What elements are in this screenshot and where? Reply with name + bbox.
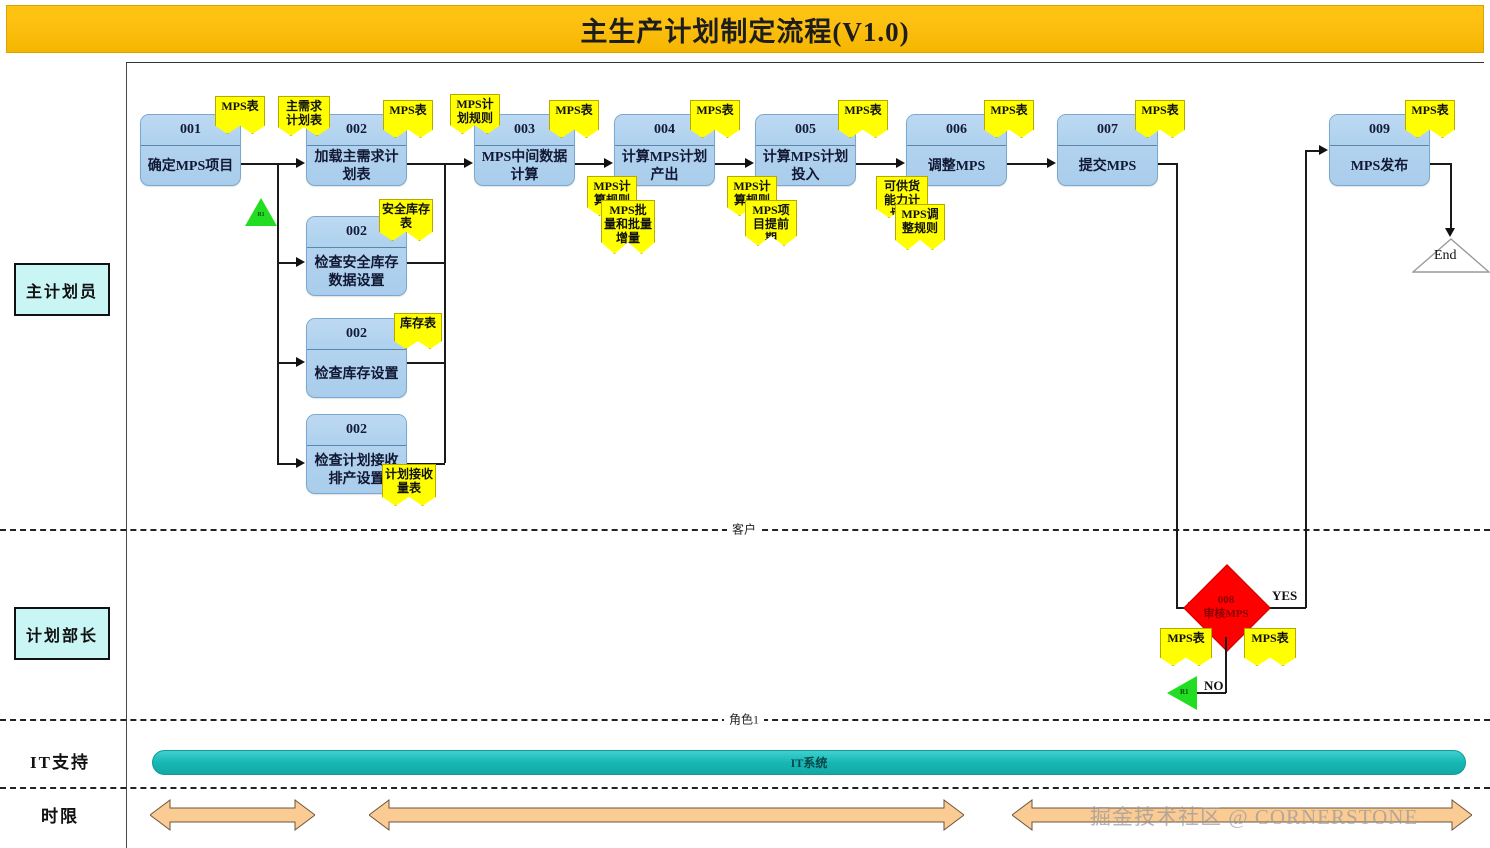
arrow-into-007 [1047, 158, 1056, 168]
connector-002a-to-003 [407, 163, 465, 165]
arrow-into-006 [896, 158, 905, 168]
connector-002b-out [407, 262, 445, 264]
process-label-002c: 检查库存设置 [307, 350, 406, 398]
arrow-into-002b [296, 257, 305, 267]
process-label-003: MPS中间数据计算 [475, 146, 574, 186]
page-title-bar: 主生产计划制定流程(V1.0) [6, 5, 1484, 53]
connector-branch-bus [277, 163, 279, 463]
process-box-002c[interactable]: 002 检查库存设置 [306, 318, 407, 398]
note-008-right: MPS表 [1244, 628, 1296, 666]
note-004-mps: MPS表 [690, 100, 740, 138]
arrow-into-005 [745, 158, 754, 168]
process-number-002d: 002 [307, 415, 406, 446]
note-006-adjust: MPS调整规则 [895, 204, 945, 250]
decision-text-008: 审核MPS [1203, 607, 1248, 621]
connector-005-to-006 [856, 163, 897, 165]
page-title: 主生产计划制定流程(V1.0) [580, 10, 909, 49]
note-005-lead: MPS项目提前期 [745, 200, 797, 246]
note-002c-stock: 库存表 [394, 313, 442, 349]
connector-009-out [1430, 163, 1452, 165]
arrow-into-002c [296, 357, 305, 367]
connector-004-to-005 [715, 163, 746, 165]
note-006-mps: MPS表 [984, 100, 1034, 138]
lane-label-director: 计划部长 [14, 607, 110, 660]
lane-label-timeline: 时限 [14, 799, 106, 829]
process-label-009: MPS发布 [1330, 146, 1429, 186]
connector-bus-to-002c [277, 362, 297, 364]
arrow-into-009 [1319, 145, 1328, 155]
connector-007-down [1176, 163, 1178, 608]
connector-merge-bus [444, 163, 446, 463]
decision-yes-label: YES [1272, 588, 1297, 604]
connector-bus-to-002d [277, 463, 297, 465]
it-system-bar: IT系统 [152, 750, 1466, 775]
start-connector-label: R1 [257, 212, 264, 218]
flowchart-canvas: 主生产计划制定流程(V1.0) 客户 角色1 主计划员 计划部长 IT支持 时限… [0, 0, 1490, 848]
connector-003-to-004 [575, 163, 605, 165]
note-008-left: MPS表 [1160, 628, 1212, 666]
no-connector-label: R1 [1180, 688, 1189, 696]
arrow-into-002d [296, 458, 305, 468]
note-002a-demand: 主需求计划表 [278, 96, 330, 136]
note-007-mps: MPS表 [1135, 100, 1185, 138]
time-arrow-2 [369, 798, 964, 832]
decision-label-008: 008 审核MPS [1186, 580, 1266, 634]
process-number-002c: 002 [307, 319, 406, 350]
arrow-into-004 [604, 158, 613, 168]
arrow-into-end [1445, 228, 1455, 237]
time-arrow-1 [150, 798, 315, 832]
note-009-mps: MPS表 [1405, 100, 1455, 138]
lane-vertical-divider [126, 62, 127, 848]
divider-customer-label: 客户 [727, 521, 761, 538]
end-terminator-label: End [1434, 248, 1457, 264]
arrow-into-003 [464, 158, 473, 168]
connector-bus-to-002b [277, 262, 297, 264]
connector-007-out [1158, 163, 1177, 165]
connector-yes-up [1305, 150, 1307, 608]
process-label-002b: 检查安全库存数据设置 [307, 248, 406, 296]
decision-number-008: 008 [1218, 593, 1235, 607]
connector-yes-out [1266, 607, 1306, 609]
lane-label-it: IT支持 [14, 745, 106, 775]
lane-label-planner: 主计划员 [14, 263, 110, 316]
connector-006-to-007 [1007, 163, 1048, 165]
lane-top-border [126, 62, 1484, 63]
note-005-mps: MPS表 [838, 100, 888, 138]
note-002a-mps: MPS表 [383, 100, 433, 138]
connector-002c-out [407, 362, 445, 364]
arrow-into-002a [296, 158, 305, 168]
connector-bus-to-002a [277, 163, 297, 165]
process-label-007: 提交MPS [1058, 146, 1157, 186]
connector-no-down [1225, 637, 1227, 693]
divider-it-timeline-line [0, 787, 1490, 789]
note-002d-receipt: 计划接收量表 [382, 464, 436, 506]
note-004-batch: MPS批量和批量增量 [601, 200, 655, 254]
watermark-text: 掘金技术社区 @ CORNERSTONE [1090, 801, 1418, 831]
connector-yes-to-009 [1305, 150, 1320, 152]
connector-009-down [1450, 163, 1452, 231]
process-label-001: 确定MPS项目 [141, 146, 240, 186]
divider-role1-label: 角色1 [724, 711, 764, 728]
connector-no-left [1197, 692, 1226, 694]
process-label-002a: 加载主需求计划表 [307, 146, 406, 186]
